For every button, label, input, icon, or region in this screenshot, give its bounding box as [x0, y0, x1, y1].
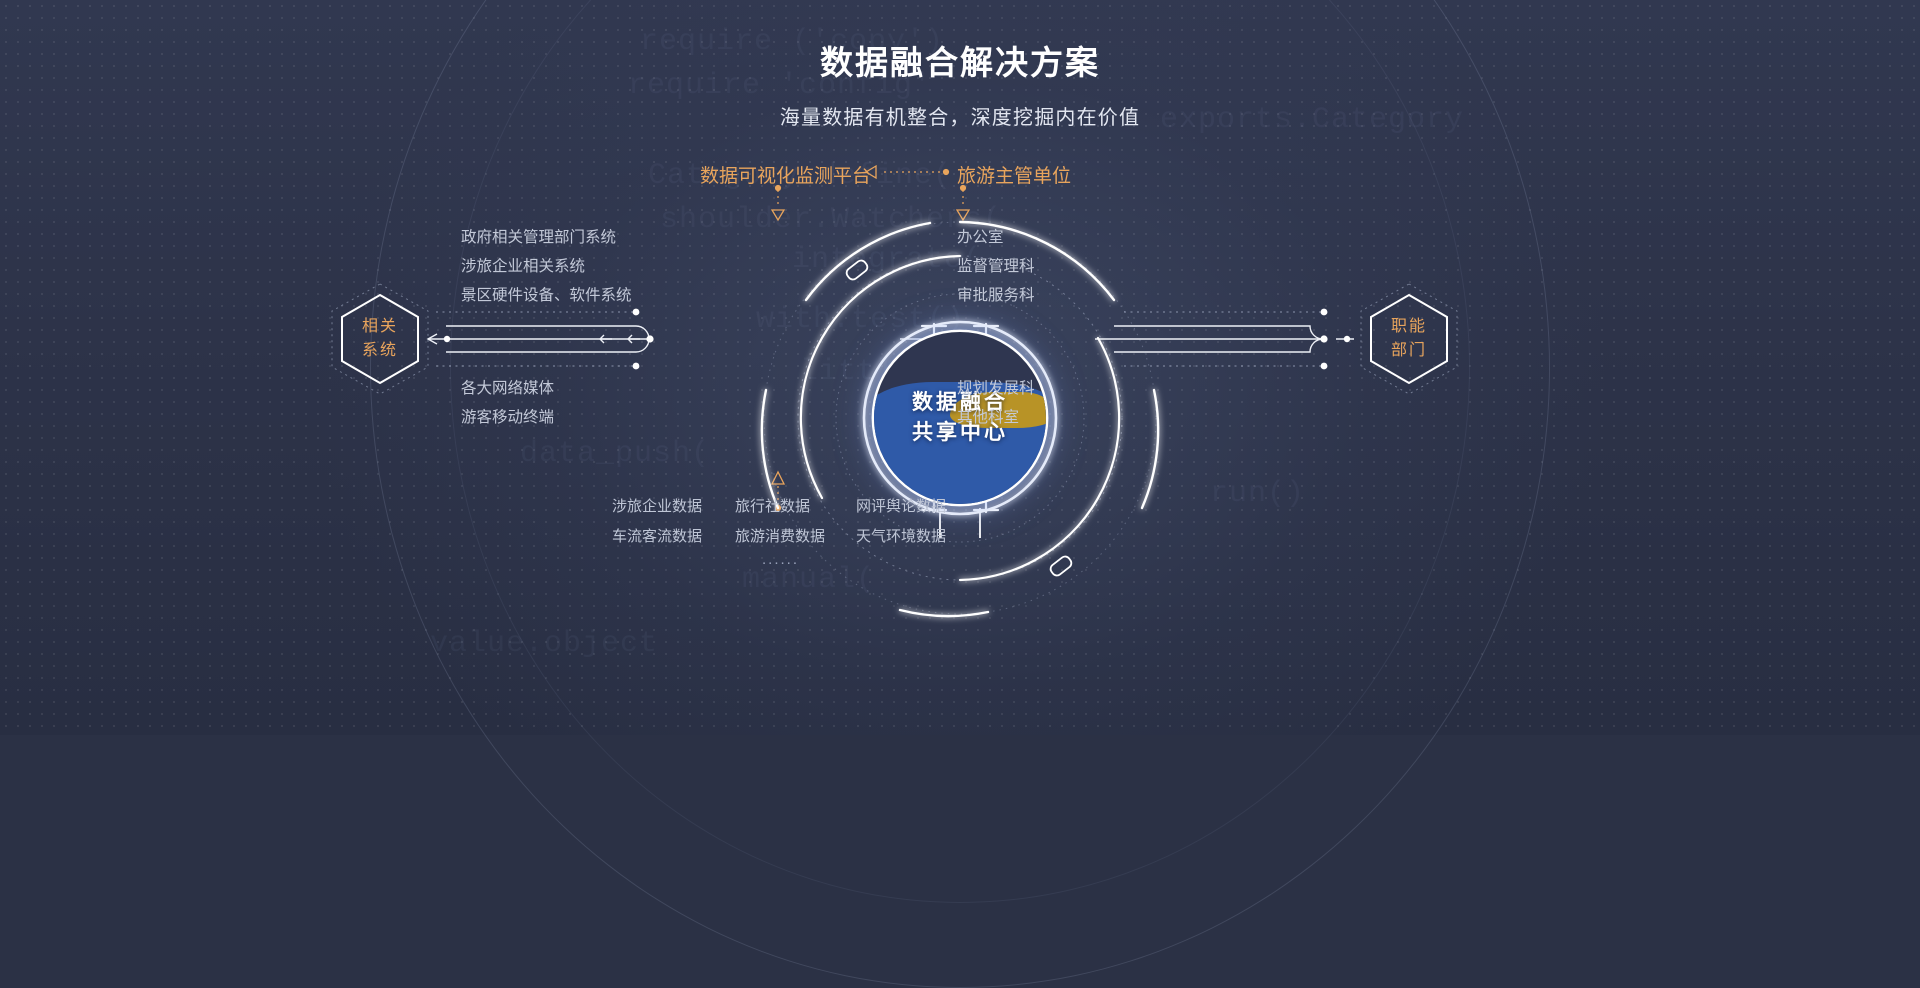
ring-marker [1049, 554, 1074, 577]
label-left-lower-0: 各大网络媒体 [461, 376, 554, 398]
header: 数据融合解决方案 海量数据有机整合，深度挖掘内在价值 [0, 0, 1920, 130]
label-right-upper-0: 办公室 [957, 225, 1004, 247]
node-dot [444, 336, 450, 342]
arrow-flow-left [628, 335, 640, 343]
hex-right-line2: 部门 [1391, 339, 1427, 363]
wire-left-rail-top [446, 326, 649, 339]
node-dot [1344, 336, 1350, 342]
node-dot [633, 363, 640, 370]
page-subtitle: 海量数据有机整合，深度挖掘内在价值 [0, 101, 1920, 130]
page-title: 数据融合解决方案 [0, 36, 1920, 84]
node-dot [943, 169, 949, 175]
label-right-upper-1: 监督管理科 [957, 254, 1035, 276]
label-bottom-c1-r0: 旅行社数据 [735, 495, 810, 516]
label-bottom-c2-r1: 天气环境数据 [856, 525, 946, 546]
hex-left-line1: 相关 [362, 315, 398, 339]
node-dot [633, 309, 640, 316]
label-bottom-c0-r0: 涉旅企业数据 [612, 495, 702, 516]
label-right-upper-2: 审批服务科 [957, 283, 1035, 305]
label-tourism-authority[interactable]: 旅游主管单位 [957, 161, 1071, 188]
node-dot [646, 335, 653, 342]
hex-left-line2: 系统 [362, 339, 398, 363]
node-dot [1321, 363, 1328, 370]
label-right-lower-1: 其他科室 [957, 405, 1019, 427]
wire-left-rail-bottom [446, 339, 649, 352]
hex-right-line1: 职能 [1391, 315, 1427, 339]
hexagon-left-related-systems[interactable]: 相关 系统 [327, 281, 433, 397]
label-right-lower-0: 规划发展科 [957, 376, 1035, 398]
label-left-upper-2: 景区硬件设备、软件系统 [461, 283, 632, 305]
node-dot [1320, 335, 1327, 342]
label-bottom-c2-r0: 网评舆论数据 [856, 495, 946, 516]
node-dot [1321, 309, 1328, 316]
label-bottom-ellipsis: ...... [762, 551, 799, 568]
hexagon-left-label: 相关 系统 [327, 281, 433, 397]
hexagon-right-label: 职能 部门 [1356, 281, 1462, 397]
diagram-canvas: require ('copy') require 'config' Catego… [0, 0, 1920, 735]
label-left-upper-0: 政府相关管理部门系统 [461, 225, 616, 247]
ring-marker [845, 258, 870, 281]
label-left-lower-1: 游客移动终端 [461, 405, 554, 427]
label-bottom-c0-r1: 车流客流数据 [612, 525, 702, 546]
label-left-upper-1: 涉旅企业相关系统 [461, 254, 585, 276]
arrow-flow-left [600, 335, 612, 343]
label-visualization-platform[interactable]: 数据可视化监测平台 [700, 161, 871, 188]
label-bottom-c1-r1: 旅游消费数据 [735, 525, 825, 546]
hexagon-right-functional-departments[interactable]: 职能 部门 [1356, 281, 1462, 397]
